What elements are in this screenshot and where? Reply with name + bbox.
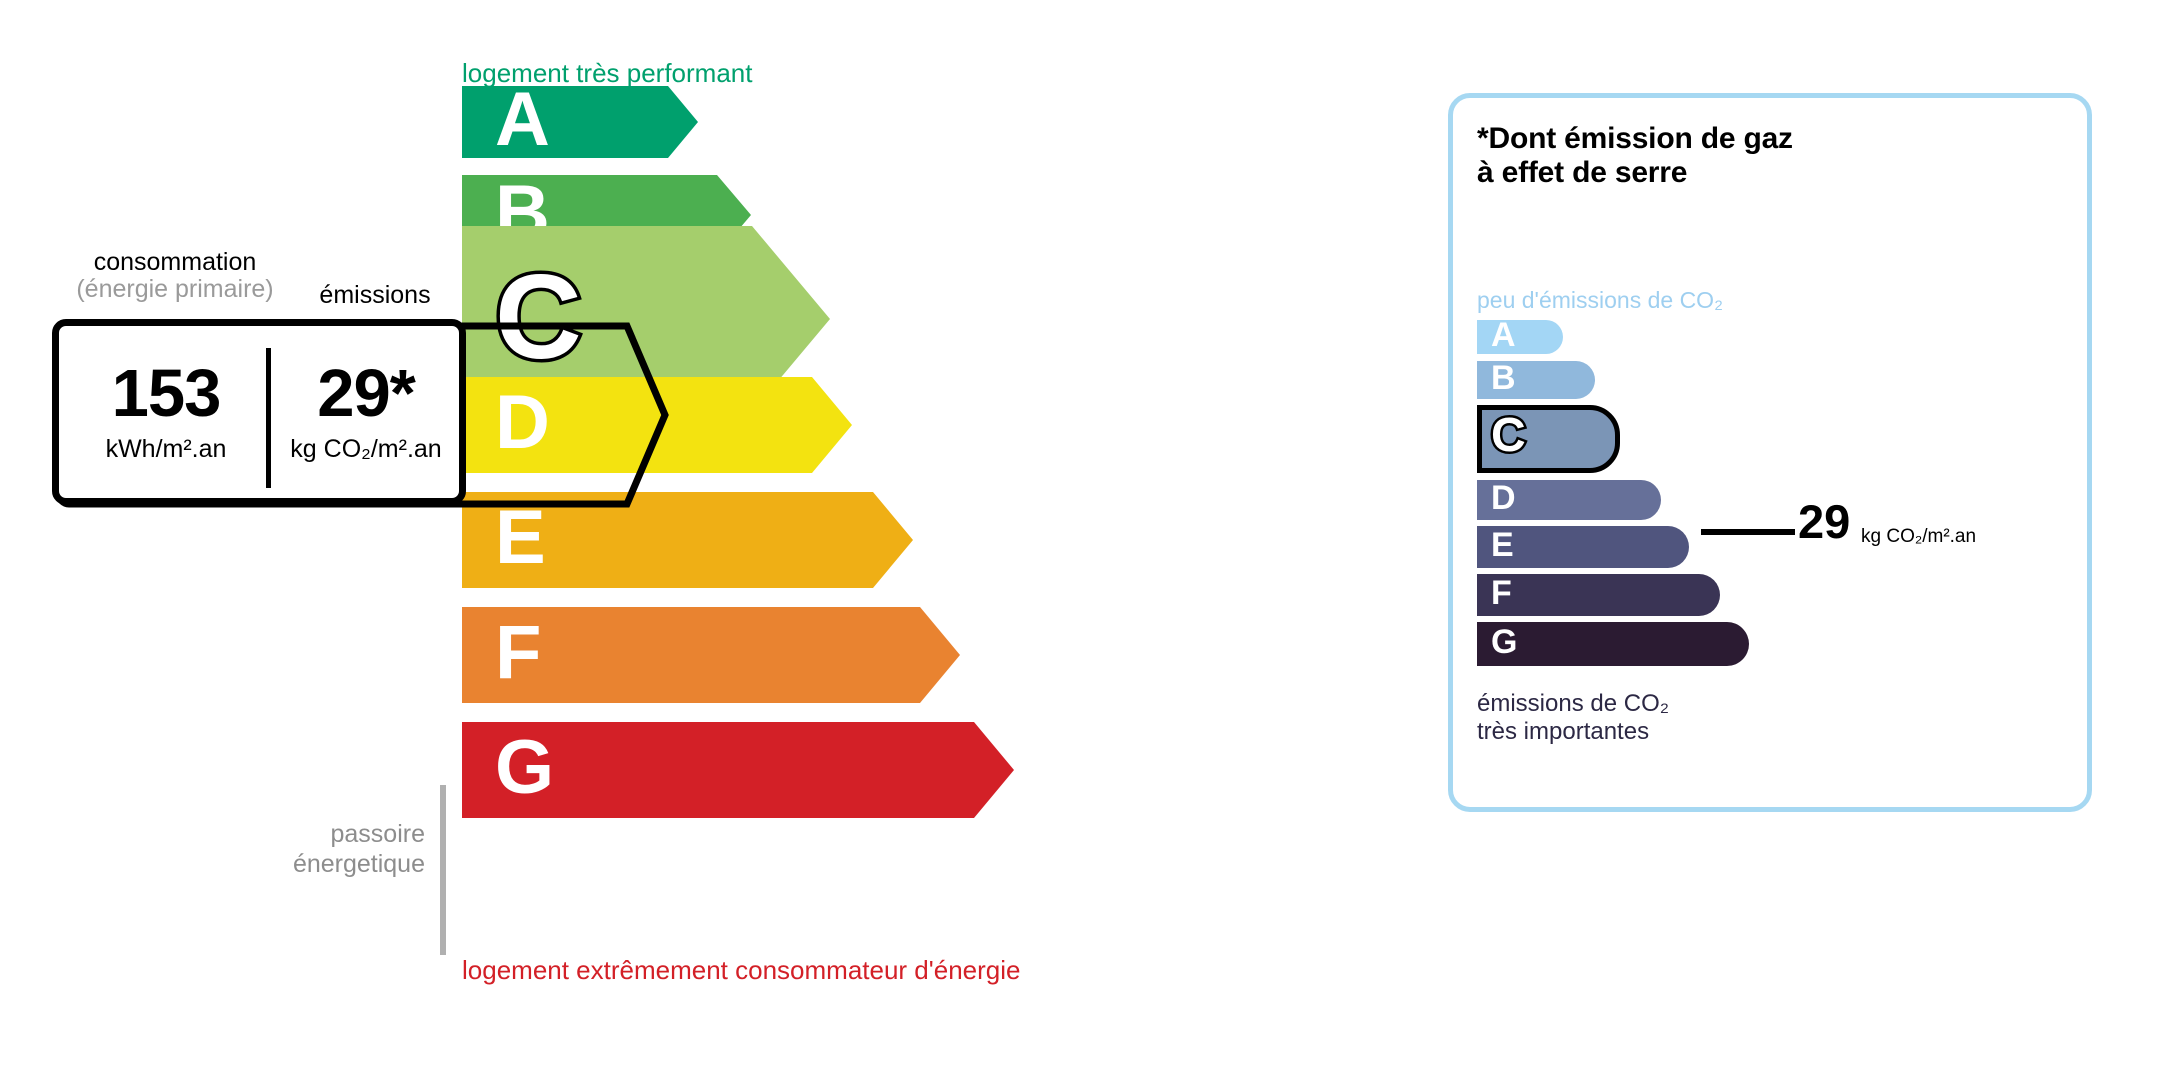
co2-bar-row-f: F <box>1477 574 1720 616</box>
energy-band-letter-e: E <box>495 500 546 576</box>
co2-emissions-panel: *Dont émission de gaz à effet de serre p… <box>1448 93 2092 812</box>
emissions-column-label: émissions <box>300 281 450 310</box>
co2-bar-row-a: A <box>1477 320 1563 354</box>
co2-panel-title: *Dont émission de gaz à effet de serre <box>1477 122 1793 190</box>
co2-bar-letter-a: A <box>1491 318 1516 352</box>
co2-callout-value: 29 <box>1798 498 1850 545</box>
co2-callout-unit: kg CO₂/m².an <box>1861 526 1976 548</box>
emission-unit: kg CO₂/m².an <box>290 435 441 464</box>
consumption-unit: kWh/m².an <box>106 435 227 464</box>
co2-bottom-caption-line2: très importantes <box>1477 718 1649 745</box>
energy-band-letter-g: G <box>495 730 554 806</box>
co2-bar-letter-d: D <box>1491 481 1516 515</box>
scale-bottom-caption: logement extrêmement consommateur d'éner… <box>462 955 1020 986</box>
co2-bar-letter-f: F <box>1491 576 1512 610</box>
passoire-energetique-label: passoire énergetique <box>190 820 425 879</box>
energy-performance-scale: logement très performant consommation (é… <box>0 0 1400 1079</box>
co2-title-line1: *Dont émission de gaz <box>1477 122 1793 155</box>
co2-bar-g <box>1477 622 1749 666</box>
energy-band-letter-a: A <box>495 82 550 158</box>
consumption-column-label: consommation (énergie primaire) <box>60 248 290 304</box>
co2-bar-letter-b: B <box>1491 361 1516 395</box>
passoire-label-line2: énergetique <box>293 850 425 878</box>
passoire-energetique-marker-bar <box>440 785 446 955</box>
consumption-value: 153 <box>112 360 221 427</box>
co2-top-caption: peu d'émissions de CO₂ <box>1477 287 1723 314</box>
measured-values-box: 153 kWh/m².an 29* kg CO₂/m².an <box>52 319 466 505</box>
consumption-value-cell: 153 kWh/m².an <box>59 326 273 498</box>
consumption-label-sub: (énergie primaire) <box>60 275 290 304</box>
co2-bar-f <box>1477 574 1720 616</box>
co2-bottom-caption: émissions de CO₂ très importantes <box>1477 690 1669 746</box>
co2-callout-leader-line <box>1701 529 1795 535</box>
co2-bar-letter-c: C <box>1491 412 1526 460</box>
co2-bar-row-e: E <box>1477 526 1689 568</box>
emission-value-cell: 29* kg CO₂/m².an <box>273 326 459 498</box>
passoire-label-line1: passoire <box>331 820 426 848</box>
co2-bar-letter-g: G <box>1491 625 1517 659</box>
co2-bar-letter-e: E <box>1491 528 1514 562</box>
co2-bar-row-g: G <box>1477 622 1749 666</box>
co2-bar-row-c: C <box>1477 405 1620 473</box>
emission-value: 29* <box>317 360 415 427</box>
value-box-divider <box>266 348 271 488</box>
energy-band-letter-f: F <box>495 615 541 691</box>
co2-bar-row-d: D <box>1477 480 1661 520</box>
co2-bar-row-b: B <box>1477 361 1595 399</box>
co2-bar-a <box>1477 320 1563 354</box>
co2-title-line2: à effet de serre <box>1477 156 1687 189</box>
consumption-label-main: consommation <box>94 248 257 276</box>
co2-bottom-caption-line1: émissions de CO₂ <box>1477 690 1669 717</box>
